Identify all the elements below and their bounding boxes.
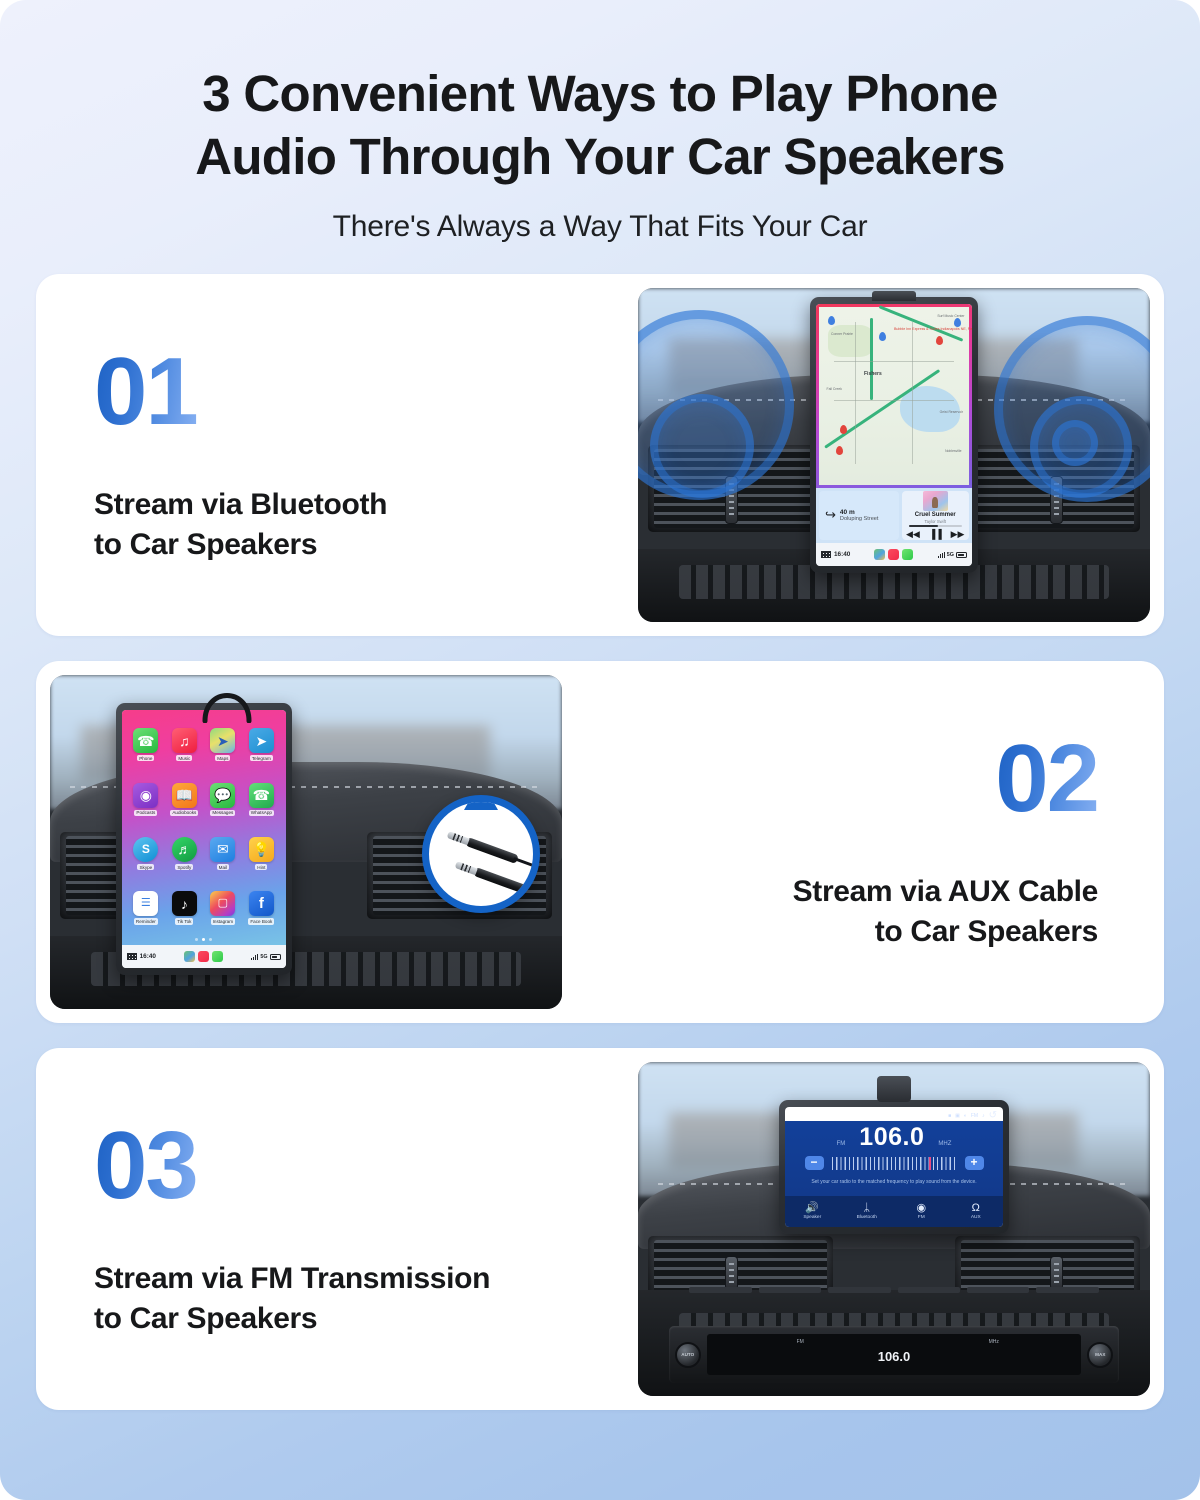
aux-plug-upper [465, 838, 519, 865]
back-arrow-icon[interactable]: ↺ [989, 1111, 997, 1121]
aux-tip-icon [455, 862, 478, 876]
app-grid-icon[interactable] [821, 551, 831, 558]
card-3-caption: Stream via FM Transmission to Car Speake… [94, 1259, 490, 1339]
page-subtitle: There's Always a Way That Fits Your Car [60, 210, 1140, 244]
map-park-area [828, 325, 873, 357]
messages-icon: 💬 [210, 783, 235, 808]
app-telegram[interactable]: ➤ Telegram [244, 728, 278, 761]
stereo-fm-label: FM [797, 1339, 804, 1345]
page-dot[interactable] [209, 938, 212, 941]
fm-tuner-body: FM 106.0 MHZ − + [785, 1121, 1003, 1196]
carplay-lower-panels: ↪ 40 m Doluping Street Cruel Summer [816, 488, 972, 543]
dock-status-group: 5G [251, 954, 280, 960]
card-2-text: 02 Stream via AUX Cable to Car Speakers [576, 661, 1164, 1023]
aux-tip-icon [447, 832, 470, 846]
status-time: 16:40 [834, 551, 850, 558]
map-street-grid [912, 322, 913, 464]
app-row: S Skype ♬ Spotify ✉ [127, 837, 281, 870]
tab-speaker[interactable]: 🔊 Speaker [785, 1196, 840, 1227]
map-label: Fishers [864, 371, 882, 377]
playback-controls: ◀◀ ▐▐ ▶▶ [906, 529, 964, 540]
charging-cable [197, 681, 267, 723]
nav-distance: 40 m [840, 509, 879, 516]
phone-mount-top [872, 291, 916, 301]
map-pin-destination [936, 336, 943, 345]
phone-home-screen: ☎ Phone ♫ Music ➤ [122, 710, 286, 945]
app-label: Messages [210, 810, 235, 816]
maps-icon[interactable] [184, 951, 195, 962]
page-indicator-dots [127, 935, 281, 943]
card-2-number: 02 [995, 733, 1098, 824]
app-label: Music [176, 755, 192, 761]
app-hint[interactable]: 💡 Hint [244, 837, 278, 870]
telegram-icon: ➤ [249, 728, 274, 753]
card-1-media: Surf Music Center Bubble Inn Express & S… [624, 274, 1164, 636]
card-aux: 02 Stream via AUX Cable to Car Speakers [36, 661, 1164, 1023]
map-pin-poi [954, 318, 961, 327]
card-3-text: 03 Stream via FM Transmission to Car Spe… [36, 1048, 624, 1410]
navigation-panel[interactable]: ↪ 40 m Doluping Street [819, 491, 899, 540]
tab-label: Bluetooth [857, 1215, 877, 1220]
console-button-strip [689, 1263, 1099, 1316]
speaker-icon: 🔊 [805, 1203, 819, 1214]
phone-mount-head [877, 1076, 911, 1102]
network-type: 5G [260, 954, 267, 960]
app-music[interactable]: ♫ Music [167, 728, 201, 761]
map-street-grid [834, 361, 954, 362]
app-row: ◉ Podcasts 📖 Audiobooks 💬 [127, 783, 281, 816]
phone-icon: ☎ [133, 728, 158, 753]
app-audiobooks[interactable]: 📖 Audiobooks [167, 783, 201, 816]
headphone-icon: Ω [972, 1203, 980, 1214]
messages-icon[interactable] [902, 549, 913, 560]
fm-instruction-text: Set your car radio to the matched freque… [795, 1179, 993, 1185]
messages-icon[interactable] [212, 951, 223, 962]
map-label: Noblesville [945, 449, 961, 453]
dock-status-group: 5G [938, 552, 967, 558]
app-spotify[interactable]: ♬ Spotify [167, 837, 201, 870]
phone-device: ☎ Phone ♫ Music ➤ [116, 703, 292, 975]
nav-street: Doluping Street [840, 516, 879, 522]
card-bluetooth: 01 Stream via Bluetooth to Car Speakers [36, 274, 1164, 636]
card-2-caption-line-2: to Car Speakers [793, 912, 1098, 952]
facebook-icon: f [249, 891, 274, 916]
podcasts-icon: ◉ [133, 783, 158, 808]
phone-dock: 16:40 5G [122, 945, 286, 968]
map-pin-poi [879, 332, 886, 341]
console-button[interactable] [759, 1287, 821, 1293]
app-grid: ☎ Phone ♫ Music ➤ [127, 717, 281, 935]
fm-status-bar: ■ ▣ ◐ FM ♪ ↺ [785, 1107, 1003, 1121]
map-street-grid [834, 400, 954, 401]
fm-indicator-icon: FM [971, 1113, 978, 1119]
turn-right-arrow-icon: ↪ [825, 507, 836, 523]
fm-tuning-controls: − + [795, 1156, 993, 1170]
dock-left-group: 16:40 [127, 953, 156, 960]
song-title: Cruel Summer [915, 512, 956, 518]
console-button[interactable] [689, 1287, 751, 1293]
app-facebook[interactable]: f Face Book [244, 891, 278, 924]
dock-left-group: 16:40 [821, 551, 850, 558]
tab-label: FM [918, 1215, 925, 1220]
sd-card-icon: ▣ [955, 1113, 960, 1119]
album-art [923, 491, 948, 511]
tab-fm[interactable]: ◉ FM [894, 1196, 949, 1227]
dashboard-photo-aux: ☎ Phone ♫ Music ➤ [50, 675, 562, 1009]
reminder-icon: ☰ [133, 891, 158, 916]
console-button[interactable] [1036, 1287, 1098, 1293]
song-artist: Taylor Swift [925, 519, 946, 524]
card-1-text: 01 Stream via Bluetooth to Car Speakers [36, 274, 624, 636]
app-label: Reminder [134, 918, 158, 924]
app-mail[interactable]: ✉ Mail [206, 837, 240, 870]
fm-frequency-value: 106.0 [859, 1123, 924, 1152]
hint-icon: 💡 [249, 837, 274, 862]
skype-icon: S [133, 837, 158, 862]
music-icon[interactable] [888, 549, 899, 560]
signal-bars-icon [938, 552, 945, 558]
tab-aux[interactable]: Ω AUX [949, 1196, 1004, 1227]
tab-bluetooth[interactable]: ᛦ Bluetooth [840, 1196, 895, 1227]
stereo-knob-left[interactable]: AUTO [675, 1342, 701, 1368]
carplay-dock: 16:40 5G [816, 543, 972, 567]
app-label: Hint [255, 864, 267, 870]
card-2-media: ☎ Phone ♫ Music ➤ [36, 661, 576, 1023]
app-phone[interactable]: ☎ Phone [129, 728, 163, 761]
map-label: Geist Reservoir [940, 410, 963, 414]
app-label: Audiobooks [170, 810, 198, 816]
dashboard-photo-fm: ■ ▣ ◐ FM ♪ ↺ FM 106.0 [638, 1062, 1150, 1396]
app-label: Tik Tok [175, 918, 193, 924]
instagram-icon: ▢ [210, 891, 235, 916]
map-pin-poi [828, 316, 835, 325]
aux-plug-lower [473, 868, 527, 895]
whatsapp-icon: ☎ [249, 783, 274, 808]
maps-icon[interactable] [874, 549, 885, 560]
card-3-caption-line-2: to Car Speakers [94, 1299, 490, 1339]
app-maps[interactable]: ➤ Maps [206, 728, 240, 761]
mail-icon: ✉ [210, 837, 235, 862]
card-1-caption-line-1: Stream via Bluetooth [94, 485, 387, 525]
console-button[interactable] [828, 1287, 890, 1293]
tab-label: AUX [971, 1215, 981, 1220]
app-podcasts[interactable]: ◉ Podcasts [129, 783, 163, 816]
app-label: Maps [215, 755, 230, 761]
app-whatsapp[interactable]: ☎ WhatsApp [244, 783, 278, 816]
page-dot-active[interactable] [202, 938, 205, 941]
title-line-2: Audio Through Your Car Speakers [60, 125, 1140, 188]
previous-track-icon[interactable]: ◀◀ [906, 529, 920, 540]
frequency-decrease-button[interactable]: − [805, 1156, 824, 1170]
wifi-icon: ◐ [964, 1113, 967, 1119]
card-3-media: ■ ▣ ◐ FM ♪ ↺ FM 106.0 [624, 1048, 1164, 1410]
bluetooth-icon: ᛦ [863, 1203, 870, 1214]
card-2-caption-line-1: Stream via AUX Cable [793, 872, 1098, 912]
map-highway-3 [870, 318, 873, 400]
app-label: Podcasts [134, 810, 157, 816]
dock-apps [874, 549, 913, 560]
card-fm: 03 Stream via FM Transmission to Car Spe… [36, 1048, 1164, 1410]
aux-cable-callout [422, 795, 540, 913]
page-title: 3 Convenient Ways to Play Phone Audio Th… [60, 62, 1140, 188]
page-dot[interactable] [195, 938, 198, 941]
callout-pointer [464, 795, 498, 810]
carplay-device: Surf Music Center Bubble Inn Express & S… [810, 297, 978, 573]
card-3-number: 03 [94, 1120, 197, 1211]
status-time: 16:40 [140, 953, 156, 960]
dock-apps [184, 951, 223, 962]
dashboard-photo-bluetooth: Surf Music Center Bubble Inn Express & S… [638, 288, 1150, 622]
app-label: Mail [217, 864, 229, 870]
music-player-panel[interactable]: Cruel Summer Taylor Swift ◀◀ ▐▐ ▶▶ [902, 491, 970, 540]
map-highway-2 [879, 305, 964, 341]
signal-bars-icon [251, 954, 258, 960]
sound-wave-left-inner [650, 394, 754, 498]
map-pin-incident [840, 425, 847, 434]
music-icon: ♫ [172, 728, 197, 753]
aux-wire [513, 857, 540, 875]
map-street-grid [855, 322, 856, 464]
tiktok-icon: ♪ [172, 891, 197, 916]
fm-screen: ■ ▣ ◐ FM ♪ ↺ FM 106.0 [785, 1107, 1003, 1227]
battery-icon [956, 552, 967, 558]
frequency-cursor [929, 1157, 931, 1170]
volume-icon: ♪ [982, 1113, 985, 1119]
console-button[interactable] [898, 1287, 960, 1293]
frequency-increase-button[interactable]: + [965, 1156, 984, 1170]
car-stereo-head-unit: AUTO FM 106.0 MHz MAX [669, 1326, 1120, 1383]
map-pin-incident [836, 446, 843, 455]
app-reminder[interactable]: ☰ Reminder [129, 891, 163, 924]
fm-frequency-row: FM 106.0 MHZ [795, 1123, 993, 1152]
app-skype[interactable]: S Skype [129, 837, 163, 870]
card-1-caption: Stream via Bluetooth to Car Speakers [94, 485, 387, 565]
maps-icon: ➤ [210, 728, 235, 753]
fm-unit-left: FM [837, 1141, 846, 1147]
music-icon[interactable] [198, 951, 209, 962]
app-label: Skype [137, 864, 154, 870]
app-instagram[interactable]: ▢ Instagram [206, 891, 240, 924]
stereo-display: FM 106.0 MHz [707, 1334, 1082, 1375]
stereo-knob-right[interactable]: MAX [1087, 1342, 1113, 1368]
app-label: Instagram [211, 918, 235, 924]
nav-text: 40 m Doluping Street [840, 509, 879, 522]
stereo-unit: MHz [989, 1339, 999, 1345]
app-tiktok[interactable]: ♪ Tik Tok [167, 891, 201, 924]
battery-icon [270, 954, 281, 960]
console-button[interactable] [967, 1287, 1029, 1293]
app-label: Spotify [175, 864, 193, 870]
app-grid-icon[interactable] [127, 953, 137, 960]
title-line-1: 3 Convenient Ways to Play Phone [60, 62, 1140, 125]
pause-icon[interactable]: ▐▐ [929, 529, 942, 540]
app-row: ☎ Phone ♫ Music ➤ [127, 728, 281, 761]
map-label: Fall Creek [827, 387, 842, 391]
header: 3 Convenient Ways to Play Phone Audio Th… [0, 0, 1200, 244]
playback-progress-bar[interactable] [909, 525, 962, 527]
fm-unit-right: MHZ [938, 1141, 951, 1147]
infographic-page: 3 Convenient Ways to Play Phone Audio Th… [0, 0, 1200, 1500]
app-label: Face Book [248, 918, 274, 924]
card-2-caption: Stream via AUX Cable to Car Speakers [793, 872, 1098, 952]
card-3-caption-line-1: Stream via FM Transmission [94, 1259, 490, 1299]
app-row: ☰ Reminder ♪ Tik Tok ▢ [127, 891, 281, 924]
fm-broadcast-icon: ◉ [916, 1203, 926, 1214]
map-label: Conner Prairie [831, 332, 853, 336]
app-label: Telegram [250, 755, 273, 761]
carplay-screen: Surf Music Center Bubble Inn Express & S… [816, 304, 972, 566]
app-messages[interactable]: 💬 Messages [206, 783, 240, 816]
app-label: Phone [137, 755, 154, 761]
card-1-number: 01 [94, 346, 197, 437]
map-label: Surf Music Center [937, 314, 964, 318]
tab-label: Speaker [803, 1215, 821, 1220]
card-1-caption-line-2: to Car Speakers [94, 525, 387, 565]
map-label: Bubble Inn Express & Suites Indianapolis… [894, 327, 963, 331]
spotify-icon: ♬ [172, 837, 197, 862]
cards-container: 01 Stream via Bluetooth to Car Speakers [0, 274, 1200, 1410]
app-label: WhatsApp [249, 810, 274, 816]
next-track-icon[interactable]: ▶▶ [951, 529, 965, 540]
fm-mode-tabs: 🔊 Speaker ᛦ Bluetooth ◉ FM [785, 1196, 1003, 1227]
network-type: 5G [947, 552, 954, 558]
carplay-map: Surf Music Center Bubble Inn Express & S… [816, 304, 972, 487]
stereo-frequency: 106.0 [878, 1349, 911, 1364]
fm-transmitter-device: ■ ▣ ◐ FM ♪ ↺ FM 106.0 [779, 1100, 1009, 1234]
usb-icon: ■ [948, 1113, 951, 1119]
frequency-scale[interactable] [832, 1157, 957, 1170]
phone-screen: ☎ Phone ♫ Music ➤ [122, 710, 286, 968]
audiobooks-icon: 📖 [172, 783, 197, 808]
